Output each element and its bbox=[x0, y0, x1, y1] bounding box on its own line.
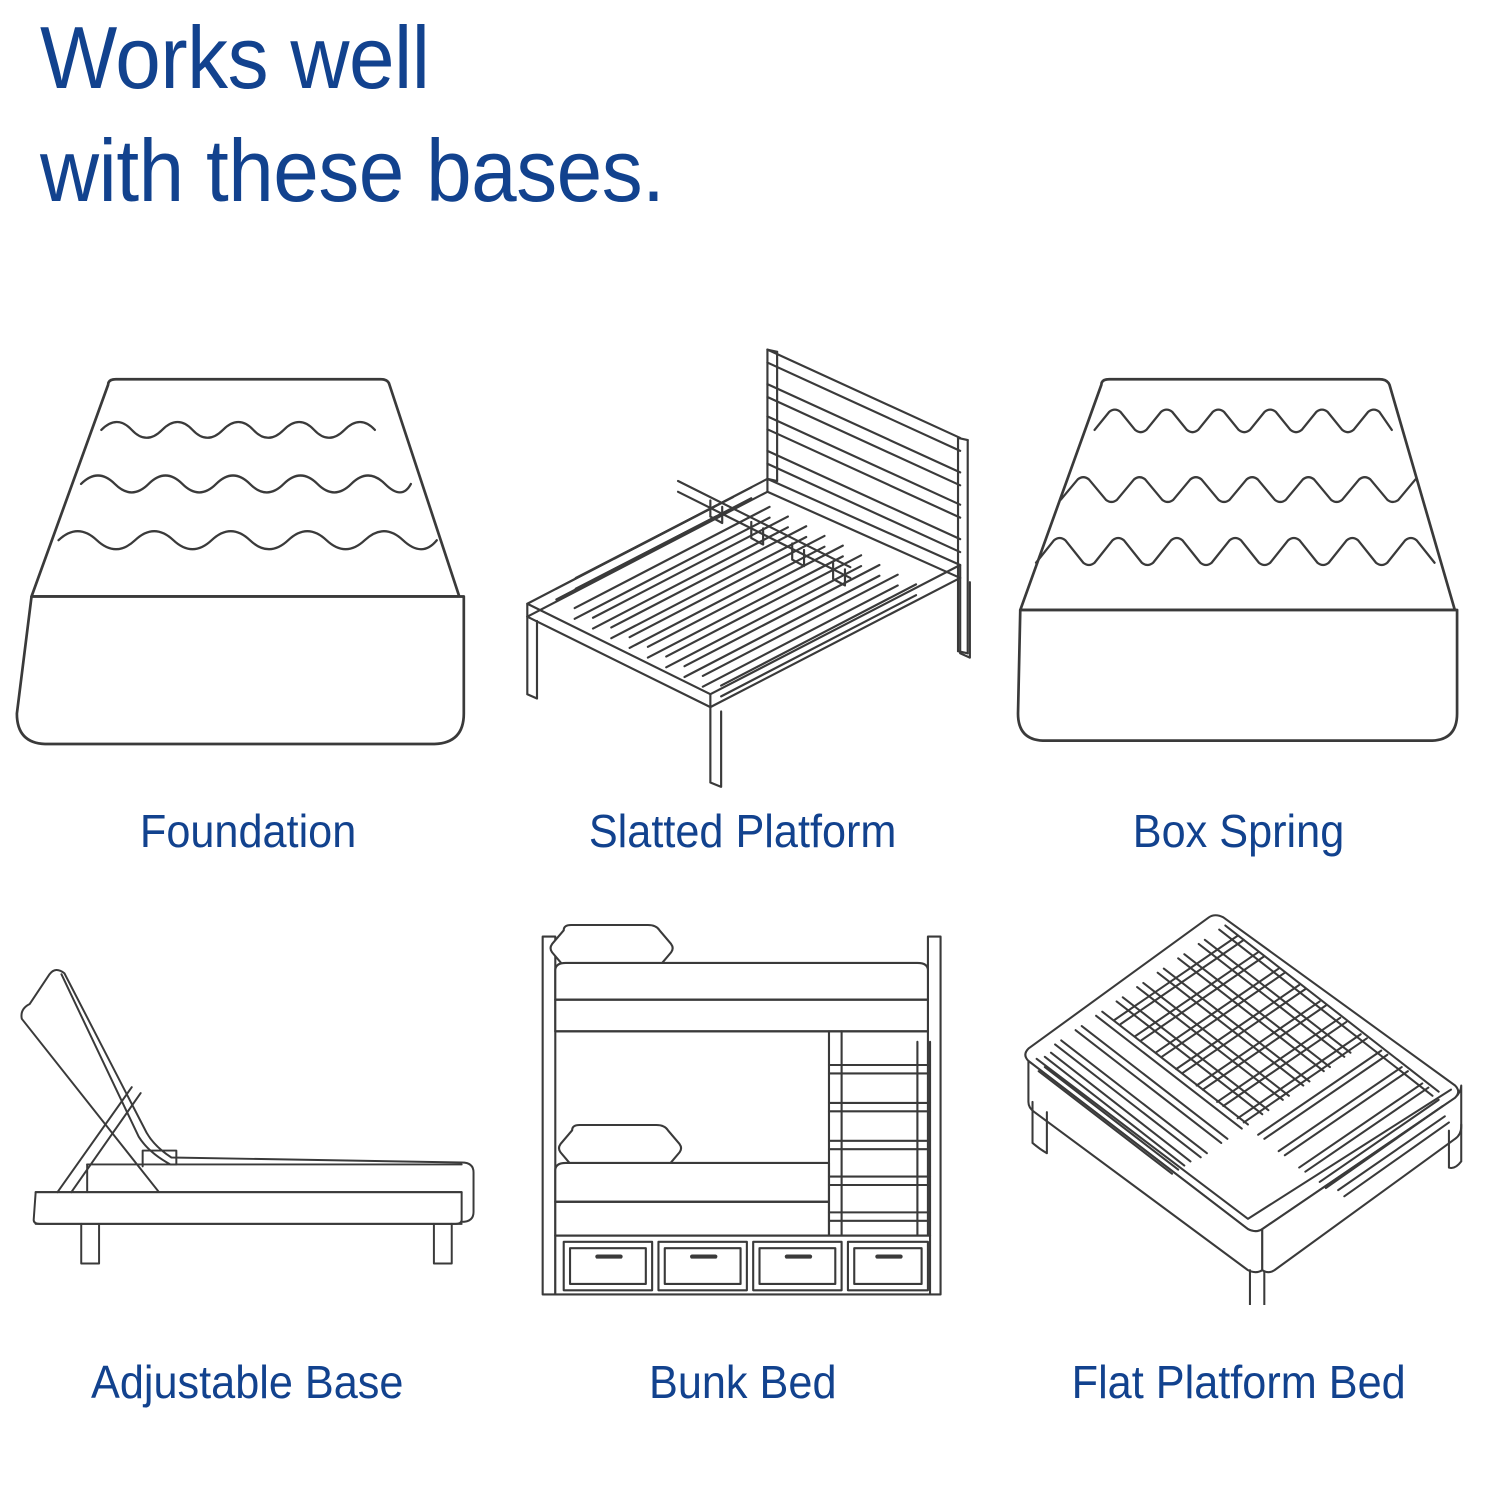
flat-platform-bed-icon bbox=[991, 905, 1486, 1305]
mattress-foundation-icon bbox=[0, 330, 495, 800]
base-card-box-spring[interactable]: Box Spring bbox=[991, 330, 1486, 905]
base-label-flat-platform-bed: Flat Platform Bed bbox=[1071, 1359, 1405, 1405]
base-card-adjustable-base[interactable]: Adjustable Base bbox=[0, 905, 495, 1480]
bases-grid: Foundation bbox=[0, 330, 1486, 1480]
bunk-bed-icon bbox=[495, 905, 990, 1305]
bases-compatibility-graphic: Works well with these bases. bbox=[0, 0, 1486, 1486]
base-label-foundation: Foundation bbox=[139, 808, 355, 854]
base-card-bunk-bed[interactable]: Bunk Bed bbox=[495, 905, 990, 1480]
page-title: Works well with these bases. bbox=[40, 2, 970, 227]
box-spring-icon bbox=[991, 330, 1486, 800]
base-label-slatted-platform: Slatted Platform bbox=[589, 808, 897, 854]
base-label-adjustable-base: Adjustable Base bbox=[91, 1359, 404, 1405]
base-label-box-spring: Box Spring bbox=[1133, 808, 1345, 854]
slatted-platform-bed-icon bbox=[495, 330, 990, 800]
base-card-slatted-platform[interactable]: Slatted Platform bbox=[495, 330, 990, 905]
base-card-foundation[interactable]: Foundation bbox=[0, 330, 495, 905]
base-label-bunk-bed: Bunk Bed bbox=[649, 1359, 837, 1405]
base-card-flat-platform-bed[interactable]: Flat Platform Bed bbox=[991, 905, 1486, 1480]
adjustable-base-icon bbox=[0, 905, 495, 1305]
